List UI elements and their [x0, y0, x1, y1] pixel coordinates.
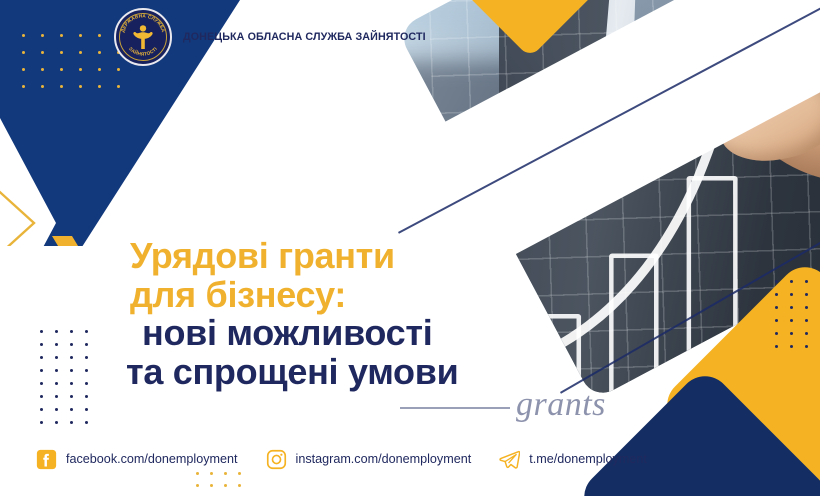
title-line-2: для бізнесу: [118, 277, 458, 314]
accent-word-row: grants [400, 386, 606, 424]
social-item-facebook[interactable]: facebook.com/donemployment [36, 449, 238, 470]
instagram-icon[interactable] [266, 449, 287, 470]
social-bar: facebook.com/donemployment instagram.com… [0, 444, 820, 474]
org-name: ДОНЕЦЬКА ОБЛАСНА СЛУЖБА ЗАЙНЯТОСТІ [183, 31, 426, 43]
title-line-3: нові можливості [118, 315, 458, 352]
social-item-telegram[interactable]: t.me/donemployment [499, 449, 647, 470]
accent-rule [400, 407, 510, 409]
emblem-person-icon [131, 24, 155, 50]
social-label-instagram: instagram.com/donemployment [296, 452, 472, 466]
title-line-1: Урядові гранти [118, 238, 458, 275]
poster: ДЕРЖАВНА СЛУЖБА ЗАЙНЯТОСТІ ДОНЕЦЬКА ОБЛА… [0, 0, 820, 496]
social-label-facebook: facebook.com/donemployment [66, 452, 238, 466]
social-item-instagram[interactable]: instagram.com/donemployment [266, 449, 472, 470]
telegram-icon[interactable] [499, 449, 520, 470]
accent-word: grants [516, 386, 606, 424]
dsz-emblem-icon: ДЕРЖАВНА СЛУЖБА ЗАЙНЯТОСТІ [114, 8, 172, 66]
title-block: Урядові гранти для бізнесу: нові можливо… [118, 238, 458, 393]
header: ДЕРЖАВНА СЛУЖБА ЗАЙНЯТОСТІ ДОНЕЦЬКА ОБЛА… [0, 0, 560, 74]
social-label-telegram: t.me/donemployment [529, 452, 647, 466]
facebook-icon[interactable] [36, 449, 57, 470]
